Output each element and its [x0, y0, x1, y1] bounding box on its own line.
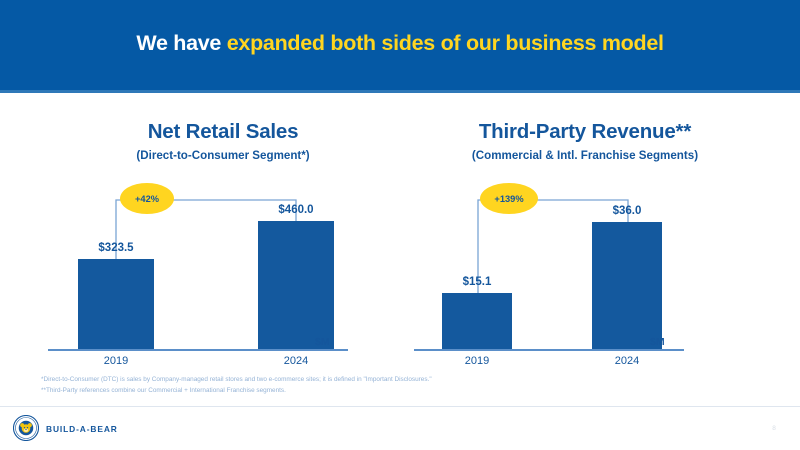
- plot-area: +139% $15.1 $36.0 $M 2019 2024: [400, 178, 770, 368]
- footnote-third-party: **Third-Party references combine our Com…: [41, 386, 741, 397]
- bar-2019: [78, 259, 154, 349]
- growth-badge: +139%: [480, 183, 538, 214]
- chart-title: Net Retail Sales: [38, 120, 408, 144]
- x-tick-2024: 2024: [258, 355, 334, 367]
- y-unit-label: $M: [650, 336, 665, 348]
- slide-title-prefix: We have: [136, 31, 226, 55]
- chart-subtitle: (Direct-to-Consumer Segment*): [38, 149, 408, 162]
- bar-2024: [592, 222, 662, 349]
- x-axis-line: [48, 349, 348, 351]
- chart-panel-third-party-revenue: Third-Party Revenue** (Commercial & Intl…: [400, 120, 770, 370]
- bar-2024: [258, 221, 334, 349]
- slide-footer: [0, 407, 800, 450]
- bar-value-2019: $323.5: [78, 242, 154, 254]
- slide-title-highlight: expanded both sides of our business mode…: [227, 31, 664, 55]
- bar-value-2024: $460.0: [258, 204, 334, 216]
- x-tick-2019: 2019: [442, 355, 512, 367]
- x-tick-2024: 2024: [592, 355, 662, 367]
- y-unit-label: $M: [315, 336, 330, 348]
- slide-canvas: We have expanded both sides of our busin…: [0, 0, 800, 450]
- bar-value-2019: $15.1: [442, 276, 512, 288]
- header-divider: [0, 90, 800, 93]
- page-number-label: 8: [762, 425, 786, 432]
- bar-2019: [442, 293, 512, 349]
- x-axis-line: [414, 349, 684, 351]
- chart-title: Third-Party Revenue**: [400, 120, 770, 144]
- footnotes-block: *Direct-to-Consumer (DTC) is sales by Co…: [41, 375, 741, 396]
- bar-value-2024: $36.0: [592, 205, 662, 217]
- footnote-dtc: *Direct-to-Consumer (DTC) is sales by Co…: [41, 375, 741, 386]
- build-a-bear-logo-icon: [13, 415, 39, 441]
- growth-badge: +42%: [120, 183, 174, 214]
- plot-area: +42% $323.5 $460.0 $M 2019 2024: [38, 178, 408, 368]
- x-tick-2019: 2019: [78, 355, 154, 367]
- chart-subtitle: (Commercial & Intl. Franchise Segments): [400, 149, 770, 162]
- brand-name-label: BUILD-A-BEAR: [46, 424, 118, 434]
- chart-panel-net-retail-sales: Net Retail Sales (Direct-to-Consumer Seg…: [38, 120, 408, 370]
- slide-title: We have expanded both sides of our busin…: [0, 31, 800, 56]
